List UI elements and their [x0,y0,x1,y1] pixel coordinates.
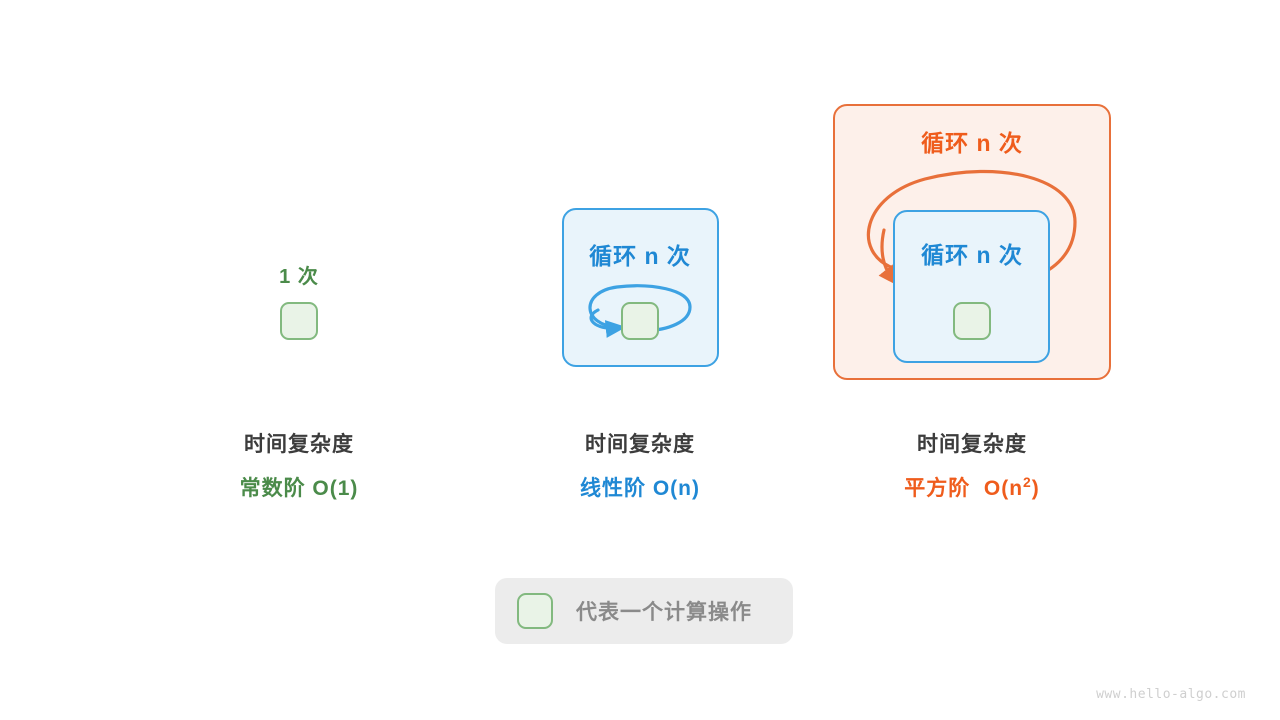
quadratic-bigo-tail: ) [1032,477,1040,500]
constant-caption-title: 时间复杂度 [199,428,399,458]
linear-caption-value: 线性阶 O(n) [540,472,740,502]
quadratic-order-name: 平方阶 [904,477,970,500]
legend-operation-square-icon [517,593,553,629]
quadratic-inner-loop-label: 循环 n 次 [892,236,1052,270]
quadratic-caption-value: 平方阶 O(n2) [872,472,1072,502]
quadratic-outer-loop-label: 循环 n 次 [892,124,1052,158]
linear-caption-title: 时间复杂度 [540,428,740,458]
operation-square-linear [621,302,659,340]
quadratic-inner-loop-box [893,210,1050,363]
constant-caption-value: 常数阶 O(1) [199,472,399,502]
quadratic-bigo-base: O(n [984,477,1023,500]
operation-square-constant [280,302,318,340]
operation-square-quadratic [953,302,991,340]
constant-count-label: 1 次 [219,260,379,289]
linear-loop-box [562,208,719,367]
quadratic-bigo-spacer [970,477,984,500]
quadratic-caption-title: 时间复杂度 [872,428,1072,458]
diagram-canvas: 1 次 循环 n 次 循环 n 次 循环 n 次 [0,0,1280,720]
legend-label: 代表一个计算操作 [576,596,752,626]
legend: 代表一个计算操作 [495,578,793,644]
quadratic-bigo-exponent: 2 [1023,474,1032,490]
watermark: www.hello-algo.com [1096,687,1246,702]
linear-loop-label: 循环 n 次 [560,237,720,271]
